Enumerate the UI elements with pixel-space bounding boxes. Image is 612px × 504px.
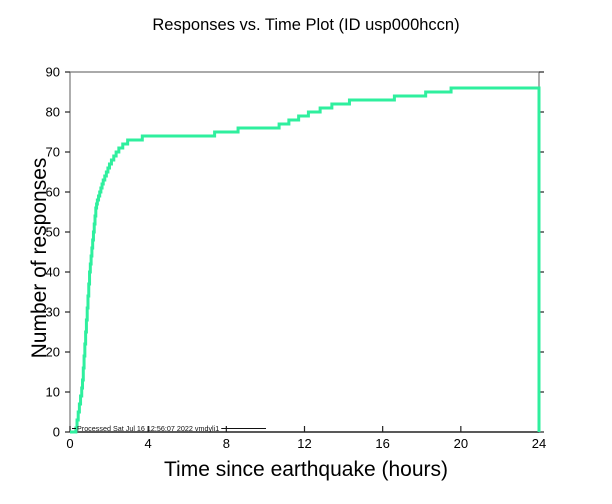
x-tick-label: 0: [66, 436, 73, 451]
x-tick-label: 20: [454, 436, 468, 451]
x-tick-label: 12: [297, 436, 311, 451]
y-axis-label: Number of responses: [28, 108, 52, 408]
response-curve: [70, 88, 539, 432]
processed-stamp: Processed Sat Jul 16 12:56:07 2022 vmdyl…: [77, 424, 219, 433]
x-tick-label: 24: [532, 436, 546, 451]
axis-frame: [70, 72, 539, 432]
x-tick-label: 16: [375, 436, 389, 451]
x-tick-label: 4: [145, 436, 152, 451]
chart-container: Responses vs. Time Plot (ID usp000hccn) …: [0, 0, 612, 504]
plot-area: 0102030405060708090 04812162024 Processe…: [0, 0, 612, 504]
x-axis-label: Time since earthquake (hours): [0, 458, 612, 482]
y-tick-label: 90: [46, 65, 60, 80]
y-tick-label: 0: [53, 425, 60, 440]
x-tick-label: 8: [223, 436, 230, 451]
